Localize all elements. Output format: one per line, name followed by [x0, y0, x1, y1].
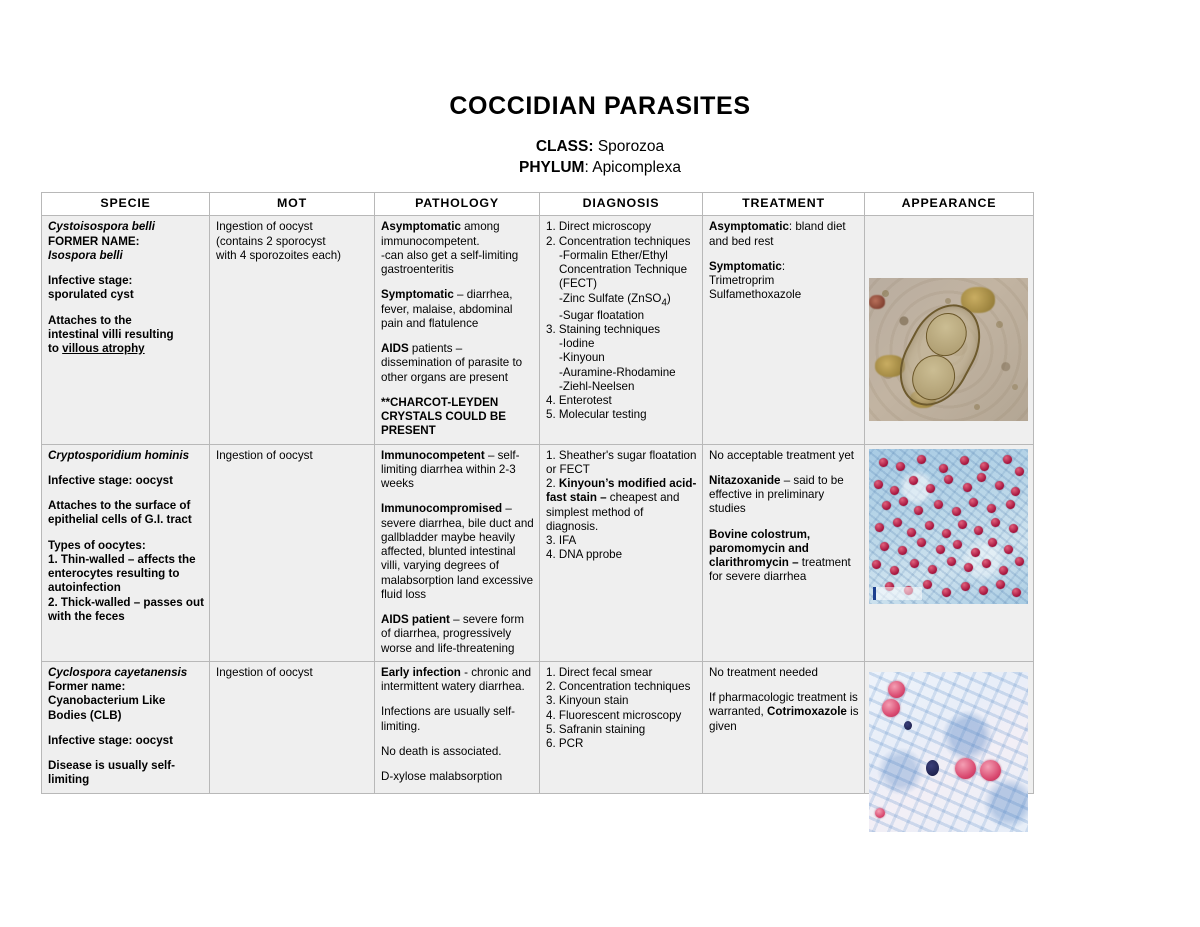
cell-mot: Ingestion of oocyst — [210, 444, 375, 661]
diagnosis-item-3: 3. IFA — [546, 534, 697, 548]
aids-label: AIDS patient — [381, 613, 450, 626]
phylum-value: : Apicomplexa — [584, 159, 681, 176]
charcot-leyden-note: **CHARCOT-LEYDEN CRYSTALS COULD BE PRESE… — [381, 396, 534, 439]
attachment-prefix: to — [48, 342, 62, 355]
diagnosis-item-3: 3. Staining techniques — [546, 323, 697, 337]
cell-treatment: No acceptable treatment yet Nitazoxanide… — [703, 444, 865, 661]
diagnosis-item-3: 3. Kinyoun stain — [546, 694, 697, 708]
mot-line-3: with 4 sporozoites each) — [216, 249, 369, 263]
class-label: CLASS: — [536, 138, 594, 155]
oocyte-type-1: 1. Thin-walled – affects the enterocytes… — [48, 553, 204, 596]
infective-stage: Infective stage: oocyst — [48, 734, 204, 748]
microscopy-image-cryptosporidium-acid-fast — [869, 449, 1028, 604]
villous-atrophy-underlined: villous atrophy — [62, 342, 144, 355]
diagnosis-item-1: 1. Sheather's sugar floatation or FECT — [546, 449, 697, 478]
diagnosis-item-2a: -Formalin Ether/Ethyl Concentration Tech… — [546, 249, 697, 292]
cell-specie: Cryptosporidium hominis Infective stage:… — [42, 444, 210, 661]
cell-treatment: Asymptomatic: bland diet and bed rest Sy… — [703, 216, 865, 444]
treatment-drug-1: Trimetroprim — [709, 274, 859, 288]
document-page: COCCIDIAN PARASITES CLASS: Sporozoa PHYL… — [0, 0, 1200, 927]
pathology-early-infection: Early infection - chronic and intermitte… — [381, 666, 534, 695]
cell-diagnosis: 1. Direct microscopy 2. Concentration te… — [540, 216, 703, 444]
table-row: Cystoisospora belli FORMER NAME: Isospor… — [42, 216, 1034, 444]
cell-appearance — [865, 661, 1034, 793]
oocyte-type-2: 2. Thick-walled – passes out with the fe… — [48, 596, 204, 625]
mot-line-1: Ingestion of oocyst — [216, 666, 369, 680]
cell-treatment: No treatment needed If pharmacologic tre… — [703, 661, 865, 793]
diagnosis-item-6: 6. PCR — [546, 737, 697, 751]
asymptomatic-label: Asymptomatic — [381, 220, 461, 233]
cell-pathology: Immunocompetent – self-limiting diarrhea… — [375, 444, 540, 661]
treatment-line-1: No acceptable treatment yet — [709, 449, 859, 463]
combination-label: Bovine colostrum, paromomycin and clarit… — [709, 528, 810, 570]
diagnosis-item-3d: -Ziehl-Neelsen — [546, 380, 697, 394]
page-title: COCCIDIAN PARASITES — [0, 92, 1200, 121]
diagnosis-item-5: 5. Molecular testing — [546, 408, 697, 422]
diagnosis-item-1: 1. Direct microscopy — [546, 220, 697, 234]
former-name-value: Cyanobacterium Like Bodies (CLB) — [48, 694, 204, 723]
immunocompromised-text: – severe diarrhea, bile duct and gallbla… — [381, 502, 534, 601]
infective-stage-value: sporulated cyst — [48, 288, 204, 302]
specie-name: Cystoisospora belli — [48, 220, 204, 234]
column-header-specie: SPECIE — [42, 193, 210, 216]
diagnosis-item-5: 5. Safranin staining — [546, 723, 697, 737]
infective-stage-label: Infective stage: — [48, 274, 204, 288]
former-name-value: Isospora belli — [48, 249, 204, 263]
column-header-appearance: APPEARANCE — [865, 193, 1034, 216]
specie-name: Cryptosporidium hominis — [48, 449, 204, 463]
cell-appearance — [865, 216, 1034, 444]
diagnosis-item-2: 2. Concentration techniques — [546, 680, 697, 694]
immunocompetent-label: Immunocompetent — [381, 449, 485, 462]
table-header-row: SPECIE MOT PATHOLOGY DIAGNOSIS TREATMENT… — [42, 193, 1034, 216]
treatment-pharmacologic: If pharmacologic treatment is warranted,… — [709, 691, 859, 734]
early-infection-label: Early infection — [381, 666, 461, 679]
diagnosis-item-4: 4. DNA pprobe — [546, 548, 697, 562]
table-row: Cyclospora cayetanensis Former name: Cya… — [42, 661, 1034, 793]
pathology-dxylose: D-xylose malabsorption — [381, 770, 534, 784]
treatment-asymptomatic: Asymptomatic: bland diet and bed rest — [709, 220, 859, 249]
column-header-mot: MOT — [210, 193, 375, 216]
mot-line-2: (contains 2 sporocyst — [216, 235, 369, 249]
cotrimoxazole-label: Cotrimoxazole — [767, 705, 847, 718]
cell-diagnosis: 1. Sheather's sugar floatation or FECT 2… — [540, 444, 703, 661]
immunocompromised-label: Immunocompromised — [381, 502, 502, 515]
cell-pathology: Asymptomatic among immunocompetent. -can… — [375, 216, 540, 444]
treatment-drug-2: Sulfamethoxazole — [709, 288, 859, 302]
diagnosis-item-2c: -Sugar floatation — [546, 309, 697, 323]
treatment-symptomatic: Symptomatic: — [709, 260, 859, 274]
oocyte-types-label: Types of oocytes: — [48, 539, 204, 553]
treatment-nitazoxanide: Nitazoxanide – said to be effective in p… — [709, 474, 859, 517]
nitazoxanide-label: Nitazoxanide — [709, 474, 781, 487]
pathology-immunocompromised: Immunocompromised – severe diarrhea, bil… — [381, 502, 534, 602]
diagnosis-item-3a: -Iodine — [546, 337, 697, 351]
coccidian-parasites-table: SPECIE MOT PATHOLOGY DIAGNOSIS TREATMENT… — [41, 192, 1034, 794]
pathology-aids: AIDS patients – dissemination of parasit… — [381, 342, 534, 385]
zinc-sulfate-text: -Zinc Sulfate (ZnSO — [559, 292, 661, 305]
attachment-site: Attaches to the surface of epithelial ce… — [48, 499, 204, 528]
microscopy-image-isospora-oocyst — [869, 278, 1028, 421]
pathology-aids: AIDS patient – severe form of diarrhea, … — [381, 613, 534, 656]
diagnosis-item-2b: -Zinc Sulfate (ZnSO4) — [546, 292, 697, 309]
phylum-line: PHYLUM: Apicomplexa — [0, 159, 1200, 177]
cell-mot: Ingestion of oocyst — [210, 661, 375, 793]
pathology-asymptomatic-sub: -can also get a self-limiting gastroente… — [381, 249, 534, 278]
cell-mot: Ingestion of oocyst (contains 2 sporocys… — [210, 216, 375, 444]
mot-line-1: Ingestion of oocyst — [216, 220, 369, 234]
class-value: Sporozoa — [594, 138, 665, 155]
cell-appearance — [865, 444, 1034, 661]
diagnosis-item-2: 2. Kinyoun’s modified acid-fast stain – … — [546, 477, 697, 534]
microscopy-image-cyclospora-safranin — [869, 672, 1028, 832]
symptomatic-label: Symptomatic — [381, 288, 454, 301]
diagnosis-item-1: 1. Direct fecal smear — [546, 666, 697, 680]
treatment-symptomatic-label: Symptomatic — [709, 260, 782, 273]
cell-pathology: Early infection - chronic and intermitte… — [375, 661, 540, 793]
aids-label: AIDS — [381, 342, 409, 355]
pathology-symptomatic: Symptomatic – diarrhea, fever, malaise, … — [381, 288, 534, 331]
diagnosis-item-3c: -Auramine-Rhodamine — [546, 366, 697, 380]
attachment-line-3: to villous atrophy — [48, 342, 204, 356]
treatment-symptomatic-colon: : — [782, 260, 785, 273]
treatment-asymptomatic-label: Asymptomatic — [709, 220, 789, 233]
former-name-label: FORMER NAME: — [48, 235, 204, 249]
cell-diagnosis: 1. Direct fecal smear 2. Concentration t… — [540, 661, 703, 793]
diagnosis-item-4: 4. Enterotest — [546, 394, 697, 408]
pathology-self-limiting: Infections are usually self-limiting. — [381, 705, 534, 734]
cell-specie: Cyclospora cayetanensis Former name: Cya… — [42, 661, 210, 793]
diagnosis-item-2-number: 2. — [546, 477, 559, 490]
pathology-immunocompetent: Immunocompetent – self-limiting diarrhea… — [381, 449, 534, 492]
disease-course: Disease is usually self-limiting — [48, 759, 204, 788]
column-header-pathology: PATHOLOGY — [375, 193, 540, 216]
diagnosis-item-4: 4. Fluorescent microscopy — [546, 709, 697, 723]
treatment-line-1: No treatment needed — [709, 666, 859, 680]
class-line: CLASS: Sporozoa — [0, 138, 1200, 156]
phylum-label: PHYLUM — [519, 159, 584, 176]
column-header-treatment: TREATMENT — [703, 193, 865, 216]
table-row: Cryptosporidium hominis Infective stage:… — [42, 444, 1034, 661]
pathology-asymptomatic: Asymptomatic among immunocompetent. — [381, 220, 534, 249]
mot-line-1: Ingestion of oocyst — [216, 449, 369, 463]
scale-bar — [873, 587, 922, 600]
attachment-line-2: intestinal villi resulting — [48, 328, 204, 342]
diagnosis-item-3b: -Kinyoun — [546, 351, 697, 365]
attachment-line-1: Attaches to the — [48, 314, 204, 328]
column-header-diagnosis: DIAGNOSIS — [540, 193, 703, 216]
infective-stage: Infective stage: oocyst — [48, 474, 204, 488]
former-name-label: Former name: — [48, 680, 204, 694]
pathology-no-death: No death is associated. — [381, 745, 534, 759]
diagnosis-item-2: 2. Concentration techniques — [546, 235, 697, 249]
zinc-sulfate-close: ) — [667, 292, 671, 305]
cell-specie: Cystoisospora belli FORMER NAME: Isospor… — [42, 216, 210, 444]
treatment-combination: Bovine colostrum, paromomycin and clarit… — [709, 528, 859, 585]
specie-name: Cyclospora cayetanensis — [48, 666, 204, 680]
